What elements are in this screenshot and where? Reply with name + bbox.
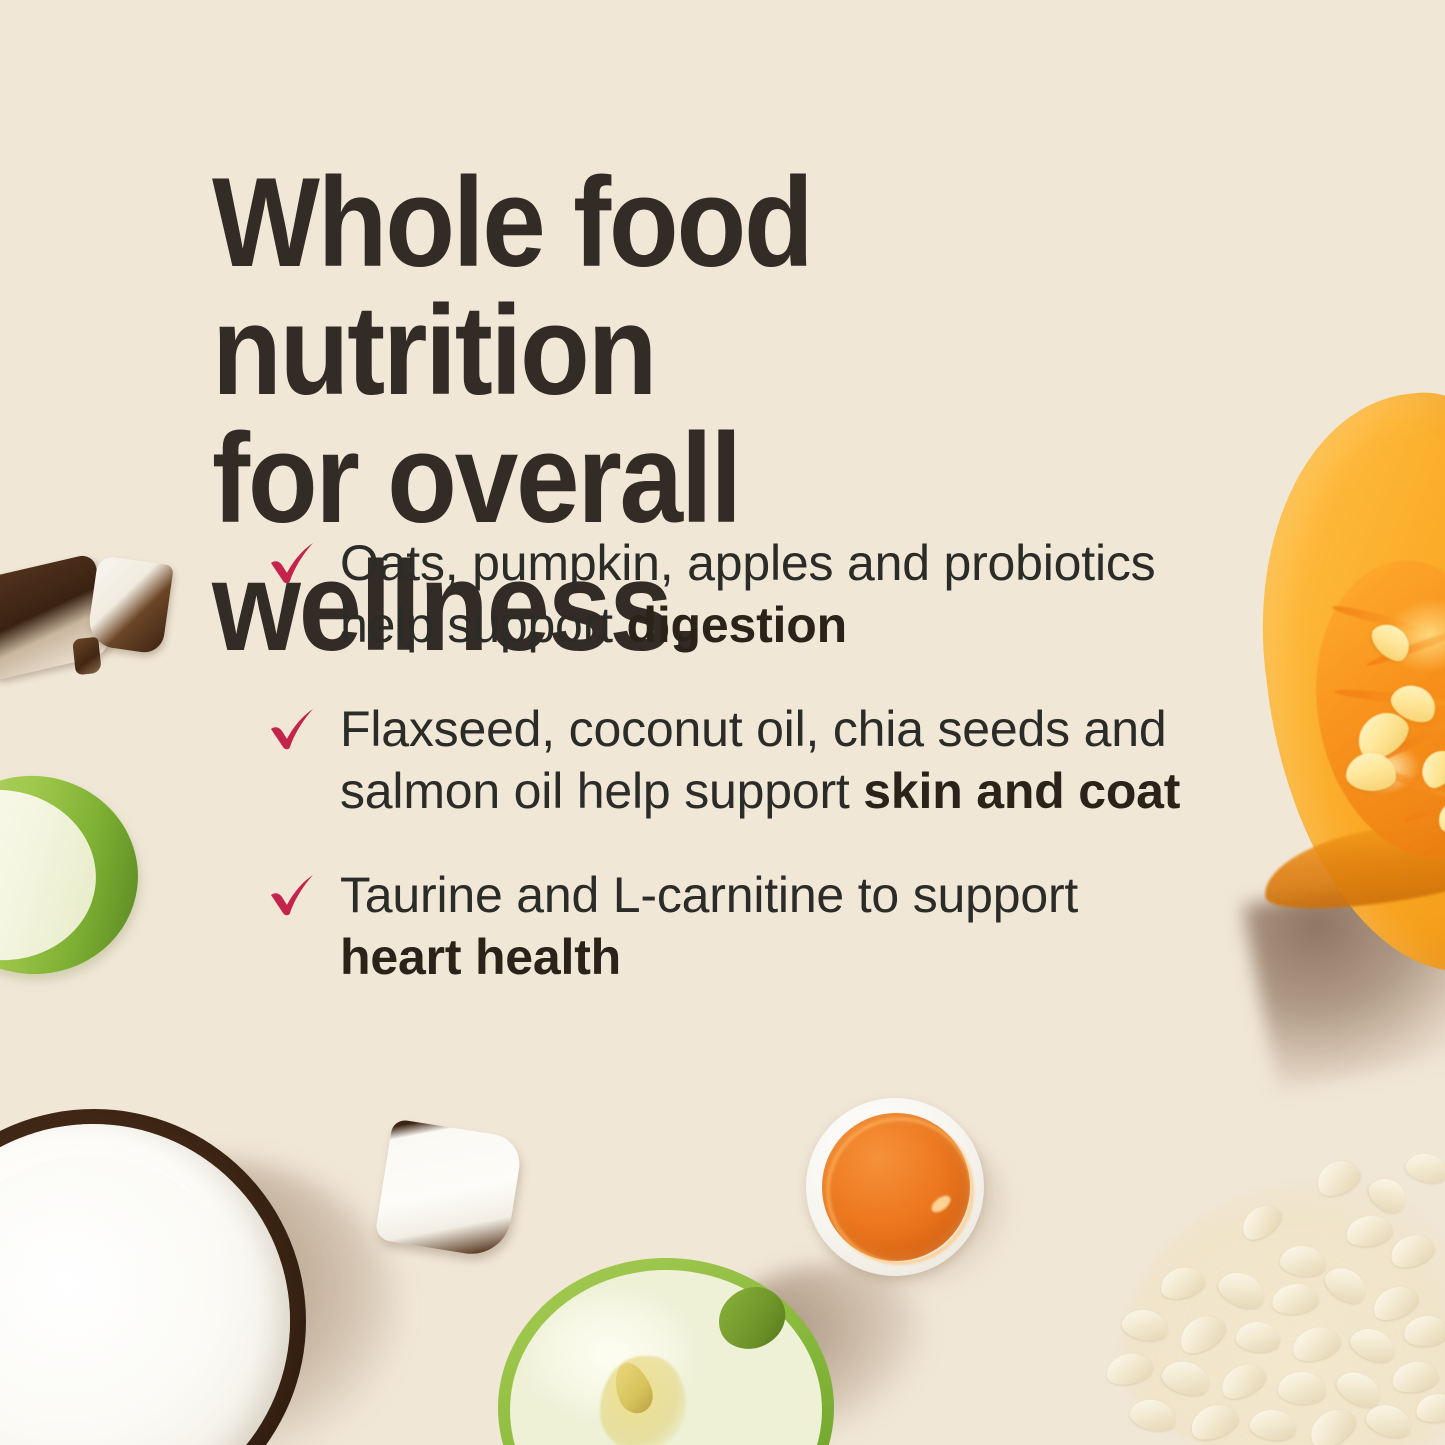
poster-content: Whole food nutrition for overall wellnes… [0,0,1445,1445]
list-item-label: Taurine and L-carnitine to support heart… [340,867,1078,985]
product-benefits-poster: Whole food nutrition for overall wellnes… [0,0,1445,1445]
list-item: Oats, pumpkin, apples and probiotics hel… [268,532,1198,656]
list-item-label: Oats, pumpkin, apples and probiotics hel… [340,535,1155,653]
benefits-list: Oats, pumpkin, apples and probiotics hel… [268,532,1198,988]
check-icon [268,704,318,750]
check-icon [268,870,318,916]
list-item-label: Flaxseed, coconut oil, chia seeds and sa… [340,701,1180,819]
list-item: Flaxseed, coconut oil, chia seeds and sa… [268,698,1198,822]
check-icon [268,538,318,584]
list-item: Taurine and L-carnitine to support heart… [268,864,1198,988]
